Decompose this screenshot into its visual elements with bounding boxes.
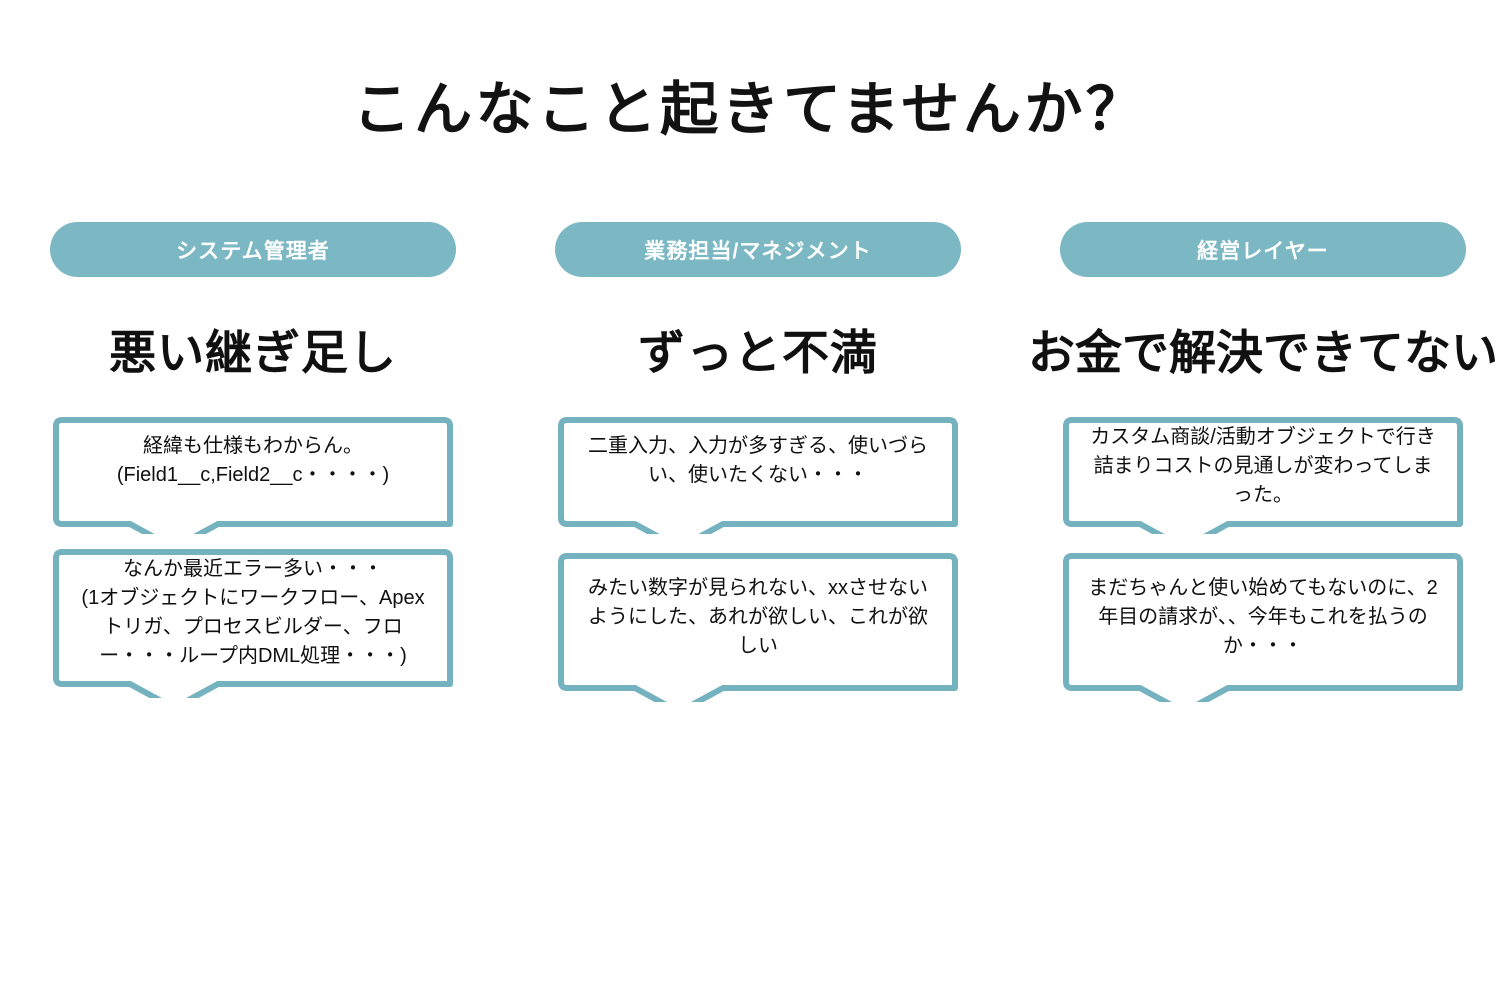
bubble-list-executive-layer: カスタム商談/活動オブジェクトで行き詰まりコストの見通しが変わってしまった。 ま… [1060, 416, 1466, 702]
page-title: こんなこと起きてませんか？ [0, 78, 1500, 142]
role-pill-label: システム管理者 [176, 235, 330, 265]
role-pill-system-admin: システム管理者 [50, 222, 456, 277]
speech-bubble: みたい数字が見られない、xxさせないようにした、あれが欲しい、これが欲しい [555, 552, 961, 702]
column-business-management: 業務担当/マネジメント ずっと不満 二重入力、入力が多すぎる、使いづらい、使いた… [548, 222, 968, 702]
columns-container: システム管理者 悪い継ぎ足し 経緯も仕様もわからん。 (Field1__c,Fi… [0, 222, 1500, 702]
speech-bubble: なんか最近エラー多い・・・ (1オブジェクトにワークフロー、Apexトリガ、プロ… [50, 548, 456, 698]
column-heading-executive-layer: お金で解決できてない [1028, 322, 1498, 384]
slide-canvas: こんなこと起きてませんか？ システム管理者 悪い継ぎ足し 経緯も仕様もわからん。… [0, 0, 1500, 1000]
speech-bubble: カスタム商談/活動オブジェクトで行き詰まりコストの見通しが変わってしまった。 [1060, 416, 1466, 534]
speech-bubble: 二重入力、入力が多すぎる、使いづらい、使いたくない・・・ [555, 416, 961, 534]
speech-bubble-text: なんか最近エラー多い・・・ (1オブジェクトにワークフロー、Apexトリガ、プロ… [68, 554, 438, 672]
role-pill-executive-layer: 経営レイヤー [1060, 222, 1466, 277]
bubble-list-system-admin: 経緯も仕様もわからん。 (Field1__c,Field2__c・・・・) なん… [50, 416, 456, 698]
role-pill-label: 業務担当/マネジメント [644, 235, 871, 265]
column-system-admin: システム管理者 悪い継ぎ足し 経緯も仕様もわからん。 (Field1__c,Fi… [43, 222, 463, 702]
speech-bubble-text: 二重入力、入力が多すぎる、使いづらい、使いたくない・・・ [573, 422, 943, 500]
speech-bubble-text: まだちゃんと使い始めてもないのに、2年目の請求が、、今年もこれを払うのか・・・ [1078, 558, 1448, 676]
speech-bubble-text: 経緯も仕様もわからん。 (Field1__c,Field2__c・・・・) [68, 422, 438, 500]
speech-bubble: まだちゃんと使い始めてもないのに、2年目の請求が、、今年もこれを払うのか・・・ [1060, 552, 1466, 702]
column-executive-layer: 経営レイヤー お金で解決できてない カスタム商談/活動オブジェクトで行き詰まりコ… [1053, 222, 1473, 702]
column-heading-business-management: ずっと不満 [638, 322, 878, 384]
column-heading-system-admin: 悪い継ぎ足し [109, 322, 397, 384]
role-pill-label: 経営レイヤー [1197, 235, 1329, 265]
bubble-list-business-management: 二重入力、入力が多すぎる、使いづらい、使いたくない・・・ みたい数字が見られない… [555, 416, 961, 702]
role-pill-business-management: 業務担当/マネジメント [555, 222, 961, 277]
speech-bubble: 経緯も仕様もわからん。 (Field1__c,Field2__c・・・・) [50, 416, 456, 534]
speech-bubble-text: みたい数字が見られない、xxさせないようにした、あれが欲しい、これが欲しい [573, 558, 943, 676]
speech-bubble-text: カスタム商談/活動オブジェクトで行き詰まりコストの見通しが変わってしまった。 [1078, 422, 1448, 510]
